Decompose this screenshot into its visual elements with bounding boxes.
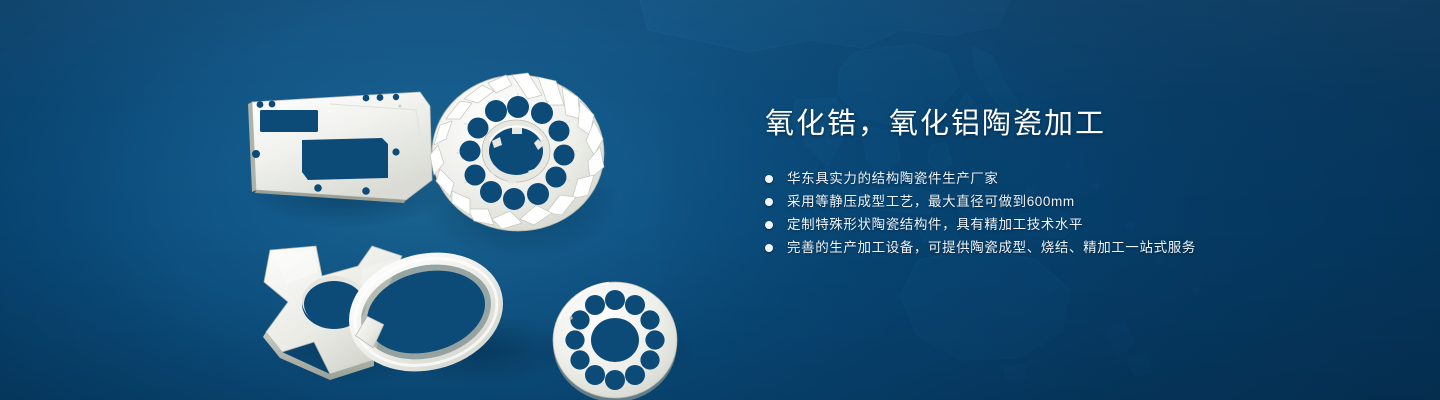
list-item: 华东具实力的结构陶瓷件生产厂家 [765, 167, 1385, 190]
bullet-text: 华东具实力的结构陶瓷件生产厂家 [787, 167, 999, 190]
list-item: 采用等静压成型工艺，最大直径可做到600mm [765, 190, 1385, 213]
ceramic-products-photo [230, 40, 710, 380]
ceramic-valve-plate-part [553, 282, 677, 400]
bullet-text: 完善的生产加工设备，可提供陶瓷成型、烧结、精加工一站式服务 [787, 236, 1196, 259]
bullet-dot-icon [765, 244, 773, 252]
list-item: 完善的生产加工设备，可提供陶瓷成型、烧结、精加工一站式服务 [765, 236, 1385, 259]
bullet-text: 采用等静压成型工艺，最大直径可做到600mm [787, 190, 1075, 213]
banner-text-block: 氧化锆，氧化铝陶瓷加工 华东具实力的结构陶瓷件生产厂家 采用等静压成型工艺，最大… [765, 110, 1385, 259]
banner-feature-list: 华东具实力的结构陶瓷件生产厂家 采用等静压成型工艺，最大直径可做到600mm 定… [765, 167, 1385, 259]
bullet-dot-icon [765, 198, 773, 206]
promo-banner: 氧化锆，氧化铝陶瓷加工 华东具实力的结构陶瓷件生产厂家 采用等静压成型工艺，最大… [0, 0, 1440, 400]
bullet-text: 定制特殊形状陶瓷结构件，具有精加工技术水平 [787, 213, 1083, 236]
list-item: 定制特殊形状陶瓷结构件，具有精加工技术水平 [765, 213, 1385, 236]
banner-headline: 氧化锆，氧化铝陶瓷加工 [765, 110, 1385, 139]
bullet-dot-icon [765, 221, 773, 229]
ceramic-plate-part [248, 92, 432, 203]
bullet-dot-icon [765, 175, 773, 183]
ceramic-impeller-part [430, 73, 604, 231]
